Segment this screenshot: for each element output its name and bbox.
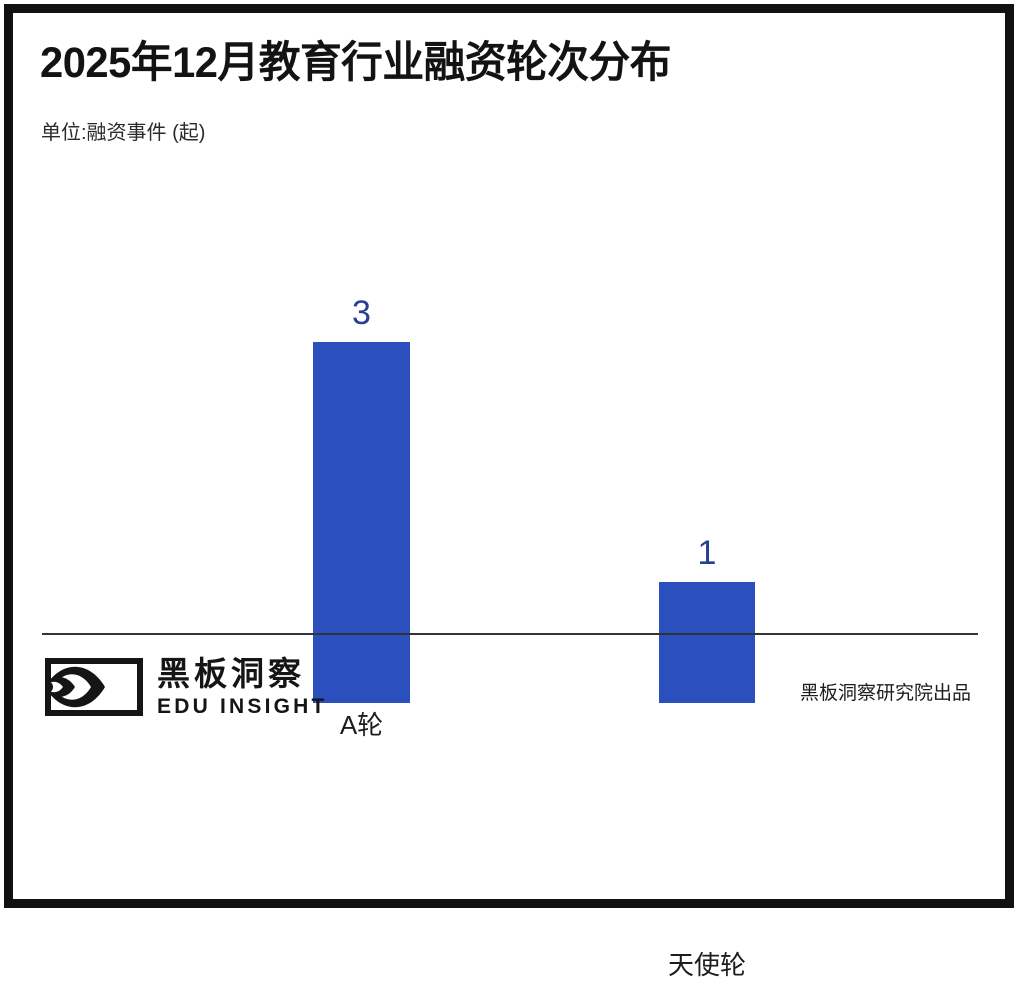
- footer-divider: [42, 633, 978, 635]
- footer-credit: 黑板洞察研究院出品: [800, 681, 971, 707]
- chart-card: 2025年12月教育行业融资轮次分布 单位:融资事件 (起) 3 A轮 1 天使…: [4, 4, 1014, 908]
- chart-plot-area: 3 A轮 1 天使轮: [13, 163, 1005, 703]
- page-title: 2025年12月教育行业融资轮次分布: [40, 37, 671, 89]
- footer: 黑板洞察 EDU INSIGHT 黑板洞察研究院出品: [13, 643, 1005, 763]
- eye-insight-logo-icon: [45, 658, 143, 716]
- brand-name-en: EDU INSIGHT: [157, 694, 328, 719]
- chart-unit-subtitle: 单位:融资事件 (起): [41, 119, 205, 147]
- brand-name-cn: 黑板洞察: [157, 655, 328, 693]
- bar-category-label-1: 天使轮: [599, 948, 815, 982]
- bar-value-label-1: 1: [659, 534, 755, 572]
- brand-text: 黑板洞察 EDU INSIGHT: [157, 655, 328, 719]
- bar-value-label-0: 3: [313, 294, 410, 332]
- chart-card-inner: 2025年12月教育行业融资轮次分布 单位:融资事件 (起) 3 A轮 1 天使…: [13, 13, 1005, 899]
- brand-logo: 黑板洞察 EDU INSIGHT: [45, 655, 328, 719]
